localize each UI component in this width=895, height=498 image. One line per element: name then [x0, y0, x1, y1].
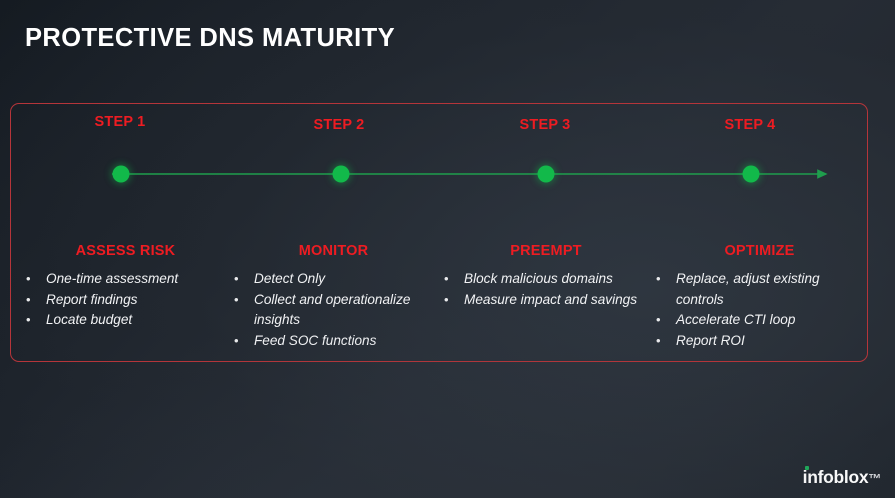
list-item: Report ROI: [652, 331, 867, 352]
slide-canvas: PROTECTIVE DNS MATURITY STEP 1 STEP 2 ST…: [0, 0, 895, 498]
list-item: Detect Only: [230, 269, 437, 290]
list-item: Measure impact and savings: [440, 290, 652, 311]
list-item: Accelerate CTI loop: [652, 310, 867, 331]
timeline-node-4: [743, 166, 760, 183]
step-label-2: STEP 2: [314, 117, 365, 133]
step-label-1: STEP 1: [95, 114, 146, 130]
timeline-node-2: [333, 166, 350, 183]
stage-heading-2: MONITOR: [230, 243, 437, 259]
stage-bullet-list-1: One-time assessment Report findings Loca…: [22, 269, 229, 331]
list-item: Feed SOC functions: [230, 331, 437, 352]
timeline-node-1: [113, 166, 130, 183]
stage-column-2: MONITOR Detect Only Collect and operatio…: [230, 243, 437, 351]
timeline-node-3: [538, 166, 555, 183]
infoblox-logo: infoblox™: [803, 467, 881, 488]
list-item: Collect and operationalize insights: [230, 290, 437, 331]
logo-accent-dot-icon: [805, 466, 809, 470]
list-item: One-time assessment: [22, 269, 229, 290]
list-item: Report findings: [22, 290, 229, 311]
page-title: PROTECTIVE DNS MATURITY: [25, 24, 395, 53]
list-item: Locate budget: [22, 310, 229, 331]
stage-bullet-list-4: Replace, adjust existing controls Accele…: [652, 269, 867, 351]
stage-heading-4: OPTIMIZE: [652, 243, 867, 259]
stage-bullet-list-2: Detect Only Collect and operationalize i…: [230, 269, 437, 351]
stage-column-4: OPTIMIZE Replace, adjust existing contro…: [652, 243, 867, 351]
step-label-4: STEP 4: [725, 117, 776, 133]
step-label-3: STEP 3: [520, 117, 571, 133]
stage-heading-1: ASSESS RISK: [22, 243, 229, 259]
stage-column-3: PREEMPT Block malicious domains Measure …: [440, 243, 652, 310]
list-item: Replace, adjust existing controls: [652, 269, 867, 310]
logo-wordmark: infoblox: [803, 467, 869, 487]
list-item: Block malicious domains: [440, 269, 652, 290]
stage-heading-3: PREEMPT: [440, 243, 652, 259]
logo-trademark: ™: [868, 471, 881, 486]
stage-bullet-list-3: Block malicious domains Measure impact a…: [440, 269, 652, 310]
stage-column-1: ASSESS RISK One-time assessment Report f…: [22, 243, 229, 331]
